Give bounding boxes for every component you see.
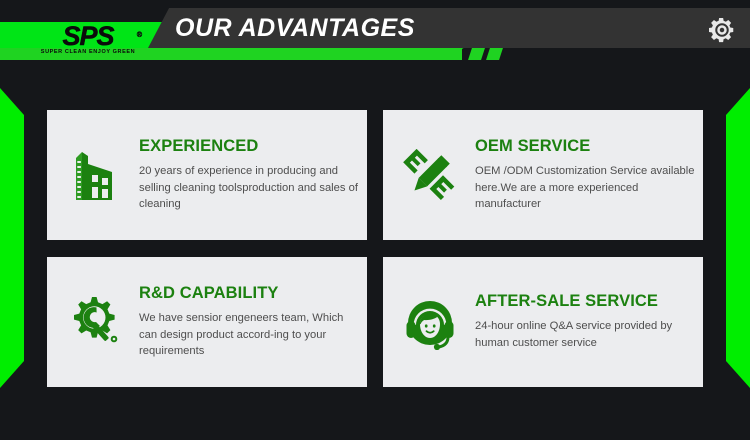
card-description: OEM /ODM Customization Service available… [475,163,695,213]
advantages-banner: OUR ADVANTAGES SPS ® SUPER CLEAN ENJOY G… [0,0,750,440]
gear-icon [707,15,737,45]
left-decor-shape [0,88,24,388]
card-description: 20 years of experience in producing and … [139,163,359,213]
right-decor-shape [726,88,750,388]
logo-wordmark: SPS ® [33,24,143,48]
pencil-ruler-icon [403,149,457,201]
card-body: OEM SERVICE OEM /ODM Customization Servi… [475,137,695,213]
page-title: OUR ADVANTAGES [175,12,415,44]
card-title: R&D CAPABILITY [139,284,359,303]
card-icon-slot [399,144,461,206]
header-accent-slash-1 [468,48,485,60]
brand-logo[interactable]: SPS ® SUPER CLEAN ENJOY GREEN [33,24,143,58]
card-body: AFTER-SALE SERVICE 24-hour online Q&A se… [475,292,695,351]
card-body: R&D CAPABILITY We have sensior engeneers… [139,284,359,360]
card-body: EXPERIENCED 20 years of experience in pr… [139,137,359,213]
advantage-card-experienced[interactable]: EXPERIENCED 20 years of experience in pr… [47,110,367,240]
advantage-card-oem-service[interactable]: OEM SERVICE OEM /ODM Customization Servi… [383,110,703,240]
card-icon-slot [63,291,125,353]
card-title: EXPERIENCED [139,137,359,156]
card-icon-slot [63,144,125,206]
logo-tagline: SUPER CLEAN ENJOY GREEN [33,49,143,55]
gear-wrench-icon [66,295,122,349]
header-accent-slash-2 [486,48,503,60]
page-header: OUR ADVANTAGES SPS ® SUPER CLEAN ENJOY G… [0,0,750,70]
logo-wordmark-text: SPS [62,21,113,51]
card-title: OEM SERVICE [475,137,695,156]
advantage-card-rd-capability[interactable]: R&D CAPABILITY We have sensior engeneers… [47,257,367,387]
advantage-card-after-sale-service[interactable]: AFTER-SALE SERVICE 24-hour online Q&A se… [383,257,703,387]
headset-agent-icon [402,294,458,350]
card-title: AFTER-SALE SERVICE [475,292,695,311]
card-icon-slot [399,291,461,353]
settings-button[interactable] [702,10,742,50]
registered-trademark-icon: ® [137,24,141,48]
card-description: We have sensior engeneers team, Which ca… [139,310,359,360]
card-description: 24-hour online Q&A service provided by h… [475,318,695,351]
building-icon [68,148,120,202]
advantage-card-grid: EXPERIENCED 20 years of experience in pr… [47,110,703,387]
